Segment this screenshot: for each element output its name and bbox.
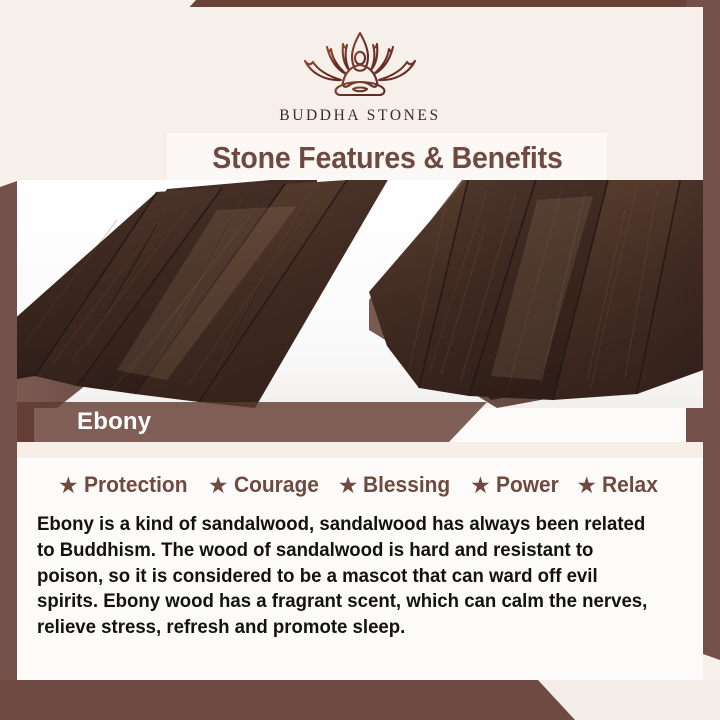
- star-icon: ★: [576, 474, 597, 497]
- star-icon: ★: [470, 474, 491, 497]
- benefit-label: Power: [496, 472, 559, 498]
- title-banner: Stone Features & Benefits: [167, 133, 607, 183]
- benefit-item: ★ Power: [470, 472, 563, 498]
- product-feature-poster: BUDDHA STONES Stone Features & Benefits: [0, 0, 720, 720]
- benefit-item: ★ Relax: [576, 472, 662, 498]
- brand-name: BUDDHA STONES: [279, 107, 440, 125]
- benefit-label: Blessing: [363, 472, 450, 498]
- benefit-label: Courage: [234, 472, 319, 498]
- product-description: Ebony is a kind of sandalwood, sandalwoo…: [37, 512, 657, 641]
- star-icon: ★: [58, 474, 79, 497]
- poster-body: ★ Protection ★ Courage ★ Blessing ★ Powe…: [17, 442, 703, 680]
- brand-logo: BUDDHA STONES: [17, 25, 703, 125]
- body-top-strip: [17, 442, 703, 458]
- benefit-item: ★ Protection: [58, 472, 195, 498]
- ebony-wood-planks-photo: [17, 180, 703, 408]
- product-label: Ebony: [77, 408, 151, 436]
- poster-header: BUDDHA STONES Stone Features & Benefits: [17, 7, 703, 182]
- page-title: Stone Features & Benefits: [212, 140, 562, 176]
- benefit-item: ★ Blessing: [338, 472, 457, 498]
- benefit-item: ★ Courage: [208, 472, 325, 498]
- benefit-label: Protection: [84, 472, 187, 498]
- product-photo: [17, 180, 703, 408]
- benefits-list: ★ Protection ★ Courage ★ Blessing ★ Powe…: [17, 472, 703, 498]
- product-label-bar: Ebony: [17, 402, 487, 442]
- star-icon: ★: [338, 474, 359, 497]
- star-icon: ★: [208, 474, 229, 497]
- benefit-label: Relax: [602, 472, 658, 498]
- lotus-meditation-icon: [285, 25, 435, 103]
